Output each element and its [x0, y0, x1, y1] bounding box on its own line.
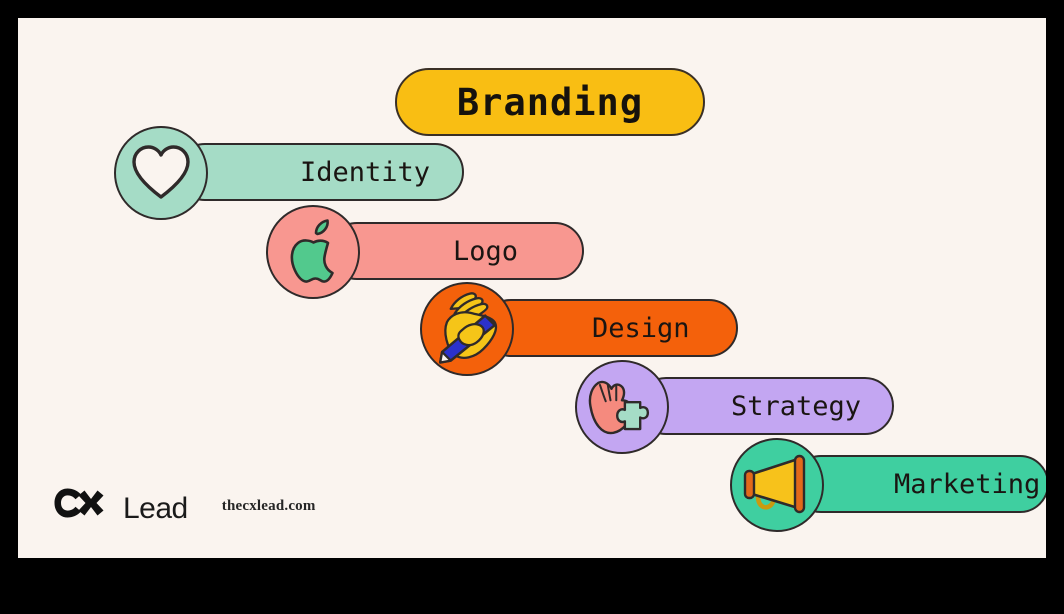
step-label-identity: Identity	[300, 159, 430, 186]
page-title: Branding	[457, 84, 643, 121]
cx-mark-icon	[54, 488, 116, 518]
heart-icon	[129, 141, 193, 205]
step-badge-marketing	[730, 438, 824, 532]
infographic-canvas: Branding Identity Logo	[18, 18, 1046, 558]
step-badge-strategy	[575, 360, 669, 454]
step-badge-design	[420, 282, 514, 376]
footer: Lead thecxlead.com	[54, 488, 316, 524]
site-url: thecxlead.com	[222, 498, 316, 515]
cx-logomark	[54, 488, 116, 518]
step-pill-strategy: Strategy	[637, 377, 894, 435]
step-label-strategy: Strategy	[731, 393, 861, 420]
megaphone-icon	[738, 450, 816, 520]
step-label-logo: Logo	[453, 238, 518, 265]
image-frame: Branding Identity Logo	[0, 0, 1064, 614]
step-pill-identity: Identity	[176, 143, 464, 201]
step-badge-identity	[114, 126, 208, 220]
title-pill: Branding	[395, 68, 705, 136]
step-badge-logo	[266, 205, 360, 299]
hand-puzzle-icon	[577, 360, 667, 454]
hand-pencil-icon	[422, 282, 512, 376]
apple-icon	[282, 219, 344, 285]
brand-logo: Lead	[54, 488, 188, 524]
step-label-marketing: Marketing	[894, 471, 1040, 498]
step-label-design: Design	[592, 315, 690, 342]
step-pill-design: Design	[482, 299, 738, 357]
step-pill-logo: Logo	[328, 222, 584, 280]
brand-word: Lead	[123, 494, 188, 524]
step-pill-marketing: Marketing	[792, 455, 1046, 513]
